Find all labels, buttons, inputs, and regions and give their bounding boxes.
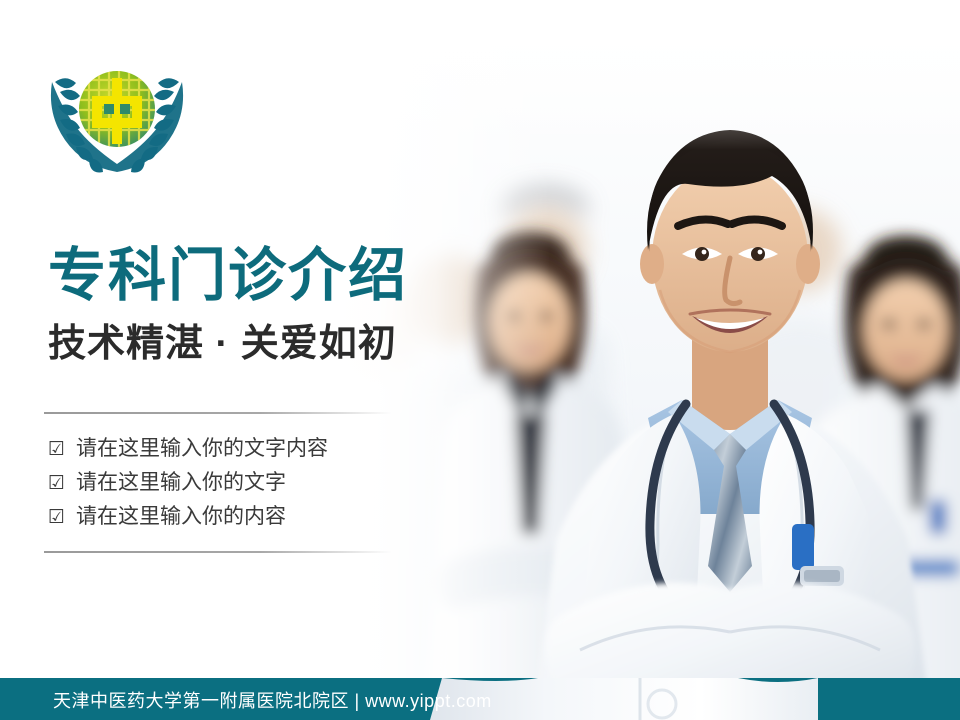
page-title: 专科门诊介绍: [48, 247, 408, 305]
list-item[interactable]: ☑ 请在这里输入你的文字内容: [48, 432, 408, 466]
divider-top: [44, 412, 392, 414]
hospital-emblem-logo: [42, 52, 192, 180]
list-item-label: 请在这里输入你的文字内容: [76, 432, 328, 466]
presentation-slide: 专科门诊介绍 技术精湛 · 关爱如初 ☑ 请在这里输入你的文字内容 ☑ 请在这里…: [0, 0, 960, 720]
checkbox-icon: ☑: [48, 466, 65, 500]
bullet-list: ☑ 请在这里输入你的文字内容 ☑ 请在这里输入你的文字 ☑ 请在这里输入你的内容: [48, 432, 408, 534]
list-item-label: 请在这里输入你的内容: [76, 500, 286, 534]
checkbox-icon: ☑: [48, 432, 65, 466]
list-item[interactable]: ☑ 请在这里输入你的内容: [48, 500, 408, 534]
list-item[interactable]: ☑ 请在这里输入你的文字: [48, 466, 408, 500]
list-item-label: 请在这里输入你的文字: [76, 466, 286, 500]
checkbox-icon: ☑: [48, 500, 65, 534]
divider-bottom: [44, 551, 392, 553]
footer-text: 天津中医药大学第一附属医院北院区 | www.yippt.com: [53, 687, 492, 713]
medical-team-photo: [330, 0, 960, 720]
page-subtitle: 技术精湛 · 关爱如初: [48, 325, 397, 363]
